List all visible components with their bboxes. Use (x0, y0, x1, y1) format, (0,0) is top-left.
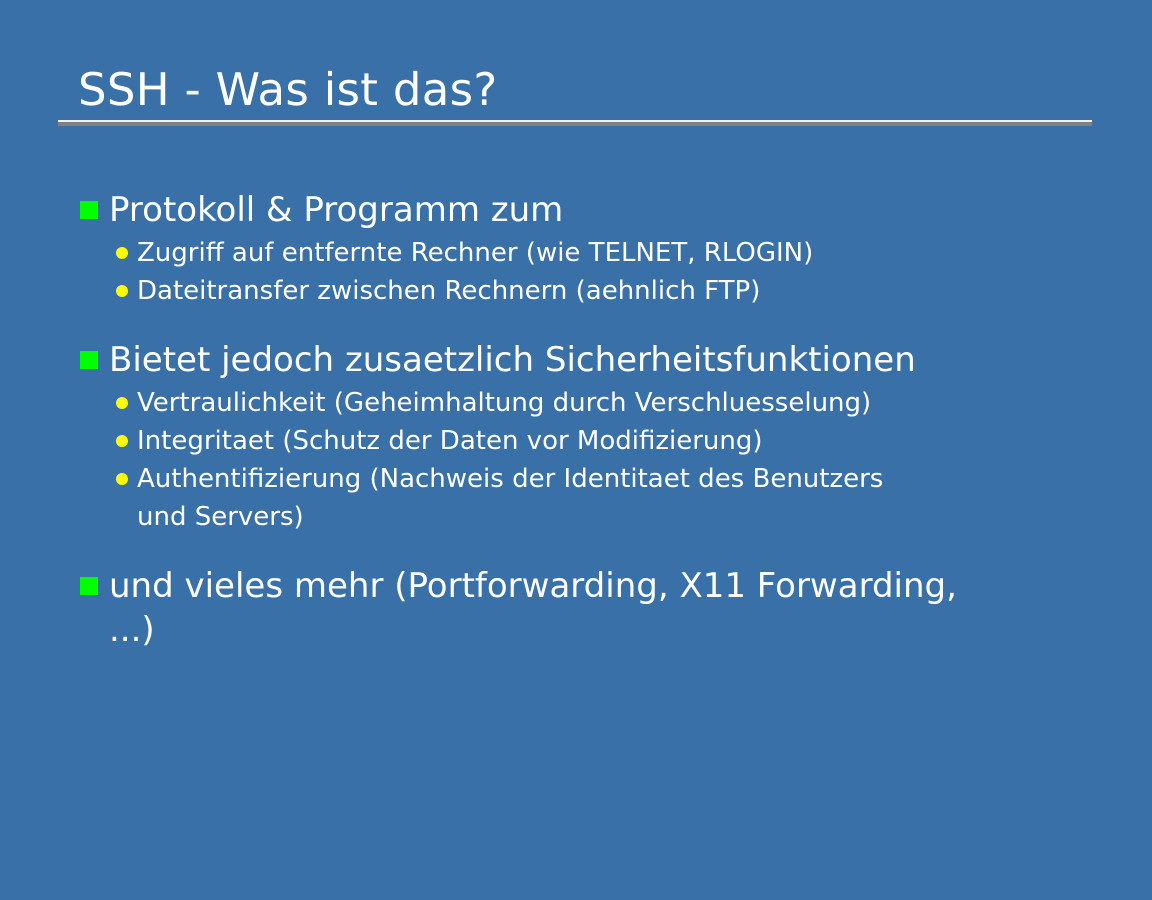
bullet-level1-item: und vieles mehr (Portforwarding, X11 For… (80, 564, 1080, 652)
bullet-level2-item: Vertraulichkeit (Geheimhaltung durch Ver… (116, 384, 1080, 422)
bullet-level1-label-line1: und vieles mehr (Portforwarding, X11 For… (109, 564, 957, 608)
bullet-level1-item: Bietet jedoch zusaetzlich Sicherheitsfun… (80, 338, 1080, 382)
bullet-level2-label: Zugriff auf entfernte Rechner (wie TELNE… (137, 234, 813, 272)
bullet-level2-label: Dateitransfer zwischen Rechnern (aehnlic… (137, 272, 760, 310)
bullet-level1-item: Protokoll & Programm zum (80, 188, 1080, 232)
bullet-level2-label: Integritaet (Schutz der Daten vor Modifi… (137, 422, 763, 460)
circle-bullet-icon (116, 473, 128, 485)
bullet-level1-label-line2: ...) (109, 608, 957, 652)
title-block: SSH - Was ist das? (58, 62, 1092, 118)
circle-bullet-icon (116, 285, 128, 297)
page-title: SSH - Was ist das? (58, 62, 1092, 118)
bullet-level2-item: Authentifizierung (Nachweis der Identita… (116, 460, 1080, 536)
bullet-level1-label: Protokoll & Programm zum (109, 188, 563, 232)
slide-canvas: SSH - Was ist das? Protokoll & Programm … (0, 0, 1152, 900)
title-divider (58, 120, 1092, 126)
bullet-level1-label: Bietet jedoch zusaetzlich Sicherheitsfun… (109, 338, 916, 382)
bullet-level2-item: Integritaet (Schutz der Daten vor Modifi… (116, 422, 1080, 460)
bullet-level2-label: Authentifizierung (Nachweis der Identita… (137, 460, 883, 536)
square-bullet-icon (80, 577, 98, 595)
slide-body: Protokoll & Programm zum Zugriff auf ent… (80, 188, 1080, 654)
bullet-level2-item: Zugriff auf entfernte Rechner (wie TELNE… (116, 234, 1080, 272)
bullet-level2-label-line2: und Servers) (137, 498, 883, 536)
bullet-group-2: Bietet jedoch zusaetzlich Sicherheitsfun… (80, 338, 1080, 536)
bullet-group-3: und vieles mehr (Portforwarding, X11 For… (80, 564, 1080, 652)
bullet-level2-label-line1: Authentifizierung (Nachweis der Identita… (137, 460, 883, 498)
bullet-level1-label: und vieles mehr (Portforwarding, X11 For… (109, 564, 957, 652)
bullet-level2-label: Vertraulichkeit (Geheimhaltung durch Ver… (137, 384, 871, 422)
circle-bullet-icon (116, 397, 128, 409)
circle-bullet-icon (116, 435, 128, 447)
square-bullet-icon (80, 351, 98, 369)
bullet-group-1: Protokoll & Programm zum Zugriff auf ent… (80, 188, 1080, 310)
divider-shadow (58, 122, 1092, 126)
square-bullet-icon (80, 201, 98, 219)
bullet-level2-item: Dateitransfer zwischen Rechnern (aehnlic… (116, 272, 1080, 310)
circle-bullet-icon (116, 247, 128, 259)
